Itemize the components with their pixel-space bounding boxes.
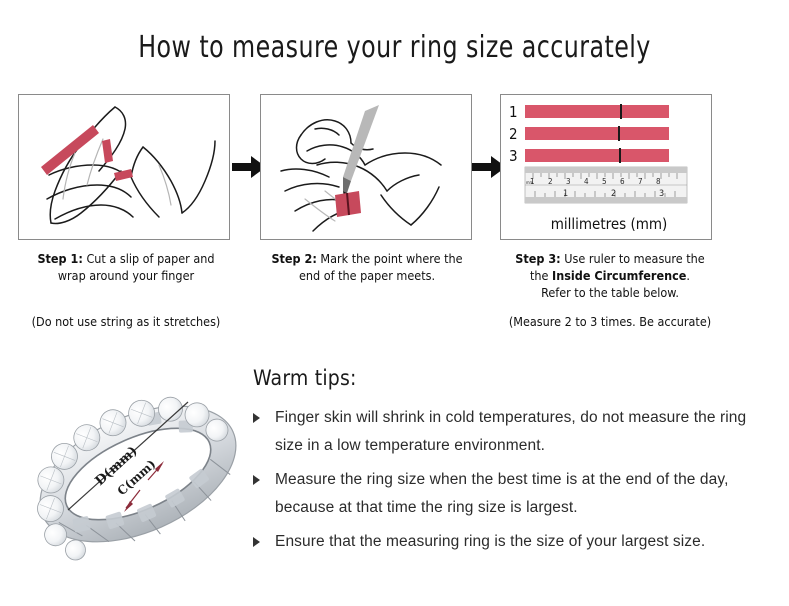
step-1-caption: Step 1: Cut a slip of paper and wrap aro…	[10, 250, 242, 284]
step-2-label: Step 2:	[271, 251, 316, 266]
paper-strip-on-finger	[335, 191, 361, 217]
tip-text: Measure the ring size when the best time…	[275, 466, 773, 522]
bullet-triangle-icon	[253, 537, 260, 547]
warm-tips-section: Warm tips: Finger skin will shrink in co…	[253, 366, 773, 562]
measured-strips	[525, 104, 669, 163]
step-3-caption-line3: Refer to the table below.	[541, 285, 679, 300]
step-3-caption: Step 3: Use ruler to measure the the Ins…	[494, 250, 726, 301]
svg-text:3: 3	[659, 189, 664, 199]
svg-text:2: 2	[611, 189, 616, 199]
tip-item: Finger skin will shrink in cold temperat…	[253, 404, 773, 460]
step-3-ruler-panel: 1 2 3	[500, 94, 712, 240]
step-3-caption-line1: Use ruler to measure the	[564, 251, 704, 266]
strip-number-1: 1	[509, 103, 518, 121]
svg-text:1: 1	[563, 189, 568, 199]
step-2-caption: Step 2: Mark the point where the end of …	[252, 250, 482, 284]
step-3-label: Step 3:	[515, 251, 560, 266]
strip-number-3: 3	[509, 147, 518, 165]
svg-text:4: 4	[584, 177, 589, 186]
step-2-caption-line2: end of the paper meets.	[299, 268, 435, 283]
step-1-caption-line1: Cut a slip of paper and	[86, 251, 214, 266]
step-3-inside-circumference: Inside Circumference	[552, 268, 686, 283]
strip-number-2: 2	[509, 125, 518, 143]
hand-marking-paper-icon	[261, 95, 472, 240]
tip-text: Ensure that the measuring ring is the si…	[275, 528, 773, 556]
hand-with-paper-strip-icon	[19, 95, 230, 240]
step-3-caption-line2-suffix: .	[686, 268, 690, 283]
tip-text: Finger skin will shrink in cold temperat…	[275, 404, 773, 460]
step-1-caption-line2: wrap around your finger	[58, 268, 194, 283]
svg-text:2: 2	[548, 177, 553, 186]
eternity-ring-image: D(mm) C(mm)	[22, 358, 254, 590]
step-3-note: (Measure 2 to 3 times. Be accurate)	[490, 314, 730, 329]
step-2-caption-line1: Mark the point where the	[320, 251, 462, 266]
page-title: How to measure your ring size accurately	[47, 30, 741, 65]
ring-diagram: D(mm) C(mm)	[22, 358, 254, 590]
ring-size-guide-page: How to measure your ring size accurately	[0, 0, 789, 606]
ruler-unit-label: millimetres (mm)	[551, 215, 668, 233]
step-1-label: Step 1:	[37, 251, 82, 266]
svg-text:3: 3	[566, 177, 571, 186]
step-3-caption-line2-prefix: the	[530, 268, 552, 283]
svg-text:8: 8	[656, 177, 661, 186]
warm-tips-heading: Warm tips:	[253, 366, 773, 390]
bullet-triangle-icon	[253, 475, 260, 485]
tip-item: Ensure that the measuring ring is the si…	[253, 528, 773, 556]
svg-text:6: 6	[620, 177, 625, 186]
step-2-illustration-panel	[260, 94, 472, 240]
bullet-triangle-icon	[253, 413, 260, 423]
tip-item: Measure the ring size when the best time…	[253, 466, 773, 522]
svg-text:5: 5	[602, 177, 607, 186]
pen-icon	[343, 105, 379, 199]
ruler: 123 456 78 mm 123	[525, 167, 687, 203]
svg-text:7: 7	[638, 177, 643, 186]
svg-text:mm: mm	[526, 180, 534, 185]
step-1-note: (Do not use string as it stretches)	[10, 314, 242, 329]
strips-with-ruler-icon: 1 2 3	[501, 95, 712, 240]
step-1-illustration-panel	[18, 94, 230, 240]
